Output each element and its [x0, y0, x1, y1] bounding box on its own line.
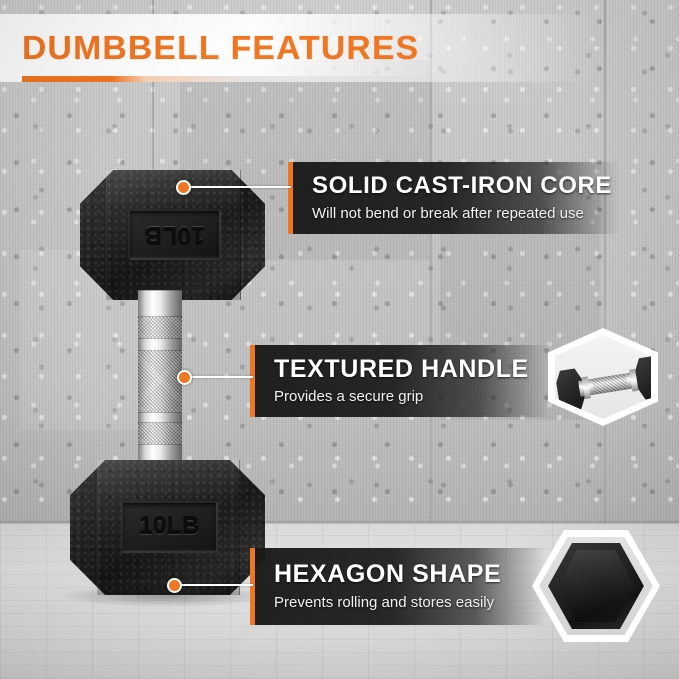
dumbbell-head-top: 10LB — [80, 170, 265, 300]
feature-title: TEXTURED HANDLE — [274, 356, 550, 382]
handle-knurl-band — [138, 422, 182, 446]
panel-accent-bar — [250, 548, 255, 625]
handle-collar — [138, 290, 182, 318]
panel-text-block: TEXTURED HANDLE Provides a secure grip — [274, 345, 550, 417]
handle-knurl-grip — [138, 350, 182, 414]
panel-text-block: SOLID CAST-IRON CORE Will not bend or br… — [312, 162, 620, 234]
leader-line-core — [183, 186, 291, 188]
weight-text: 10LB — [139, 513, 200, 541]
inset-photo-hexagon-endcap — [532, 530, 660, 642]
page-title: DUMBBELL FEATURES — [22, 29, 419, 67]
feature-title: SOLID CAST-IRON CORE — [312, 173, 620, 198]
title-underline — [22, 76, 582, 82]
feature-subtitle: Provides a secure grip — [274, 388, 550, 406]
infographic-canvas: DUMBBELL FEATURES 10LB 10LB — [0, 0, 679, 679]
marker-dot-handle — [177, 370, 192, 385]
inset-photo-handle-closeup — [548, 328, 658, 426]
feature-subtitle: Will not bend or break after repeated us… — [312, 205, 620, 223]
feature-panel-textured-handle[interactable]: TEXTURED HANDLE Provides a secure grip — [250, 345, 550, 417]
feature-subtitle: Prevents rolling and stores easily — [274, 594, 546, 612]
handle-knurl-band — [138, 316, 182, 340]
header-banner: DUMBBELL FEATURES — [0, 14, 679, 82]
feature-title: HEXAGON SHAPE — [274, 561, 546, 587]
panel-accent-bar — [288, 162, 293, 234]
weight-label-top: 10LB — [128, 209, 221, 260]
marker-dot-core — [176, 180, 191, 195]
weight-text: 10LB — [144, 220, 205, 248]
leader-line-hexagon — [174, 584, 253, 586]
black-hexagon-block — [548, 543, 644, 629]
dumbbell-head-bottom: 10LB — [70, 460, 265, 595]
marker-dot-hexagon — [167, 578, 182, 593]
leader-line-handle — [184, 376, 253, 378]
dumbbell-handle — [138, 290, 182, 470]
panel-accent-bar — [250, 345, 255, 417]
dumbbell-product-image: 10LB 10LB — [60, 160, 280, 620]
panel-text-block: HEXAGON SHAPE Prevents rolling and store… — [274, 548, 546, 625]
feature-panel-hexagon-shape[interactable]: HEXAGON SHAPE Prevents rolling and store… — [250, 548, 546, 625]
feature-panel-solid-cast-iron-core[interactable]: SOLID CAST-IRON CORE Will not bend or br… — [288, 162, 620, 234]
weight-label-bottom: 10LB — [121, 501, 219, 554]
